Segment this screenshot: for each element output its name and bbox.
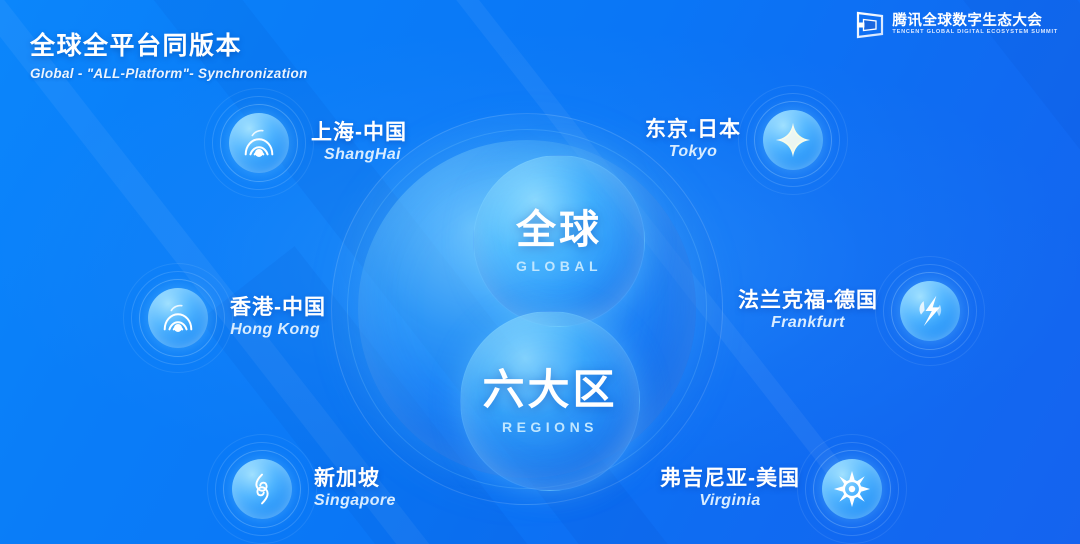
node-label-cn: 东京-日本 xyxy=(645,118,741,142)
node-label-cn: 香港-中国 xyxy=(230,296,326,320)
spiral-flame-icon xyxy=(232,459,292,519)
lightning-bolt-icon xyxy=(900,281,960,341)
node-frankfurt[interactable]: 法兰克福-德国 Frankfurt xyxy=(738,281,960,341)
node-hongkong-labels: 香港-中国 Hong Kong xyxy=(230,296,326,341)
bubble-global-label-cn: 全球 xyxy=(516,210,602,250)
node-hongkong[interactable]: 香港-中国 Hong Kong xyxy=(148,288,326,348)
node-label-cn: 弗吉尼亚-美国 xyxy=(660,467,800,491)
bubble-regions-label-cn: 六大区 xyxy=(482,369,617,411)
radar-dome-icon xyxy=(229,113,289,173)
page-title-cn: 全球全平台同版本 xyxy=(30,26,308,62)
four-point-star-icon xyxy=(763,110,823,170)
node-frankfurt-labels: 法兰克福-德国 Frankfurt xyxy=(738,289,878,334)
node-virginia[interactable]: 弗吉尼亚-美国 Virginia xyxy=(660,459,882,519)
node-label-en: Virginia xyxy=(699,491,760,512)
bubble-global-label-en: GLOBAL xyxy=(516,259,602,273)
slide-title-block: 全球全平台同版本 Global - "ALL-Platform"- Synchr… xyxy=(30,26,308,81)
node-label-en: Frankfurt xyxy=(771,313,845,334)
bubble-regions-label-en: REGIONS xyxy=(502,420,598,434)
node-tokyo-labels: 东京-日本 Tokyo xyxy=(645,118,741,163)
radar-dome-icon xyxy=(148,288,208,348)
node-label-en: ShangHai xyxy=(324,145,407,166)
node-shanghai-labels: 上海-中国 ShangHai xyxy=(311,121,407,166)
node-singapore-labels: 新加坡 Singapore xyxy=(314,467,402,512)
node-label-cn: 法兰克福-德国 xyxy=(738,289,878,313)
node-virginia-labels: 弗吉尼亚-美国 Virginia xyxy=(660,467,800,512)
node-singapore[interactable]: 新加坡 Singapore xyxy=(232,459,402,519)
bubble-regions: 六大区 REGIONS xyxy=(460,311,640,491)
bubble-global: 全球 GLOBAL xyxy=(473,155,645,327)
brand-logo: 腾讯全球数字生态大会 TENCENT GLOBAL DIGITAL ECOSYS… xyxy=(855,10,1058,40)
brand-name-en: TENCENT GLOBAL DIGITAL ECOSYSTEM SUMMIT xyxy=(892,30,1058,36)
bg-streak xyxy=(760,0,1080,449)
node-tokyo[interactable]: 东京-日本 Tokyo xyxy=(645,110,823,170)
node-label-en: Singapore xyxy=(314,491,402,512)
node-label-en: Hong Kong xyxy=(230,320,326,341)
compass-sun-icon xyxy=(822,459,882,519)
page-title-en: Global - "ALL-Platform"- Synchronization xyxy=(30,66,308,81)
bg-streak xyxy=(980,0,1080,409)
node-label-en: Tokyo xyxy=(669,142,718,163)
node-label-cn: 上海-中国 xyxy=(311,121,407,145)
node-label-cn: 新加坡 xyxy=(314,467,380,491)
node-shanghai[interactable]: 上海-中国 ShangHai xyxy=(229,113,407,173)
tencent-cube-icon xyxy=(855,10,885,40)
brand-name-cn: 腾讯全球数字生态大会 xyxy=(892,14,1058,29)
brand-text: 腾讯全球数字生态大会 TENCENT GLOBAL DIGITAL ECOSYS… xyxy=(892,14,1058,35)
slide-background: 全球全平台同版本 Global - "ALL-Platform"- Synchr… xyxy=(0,0,1080,544)
